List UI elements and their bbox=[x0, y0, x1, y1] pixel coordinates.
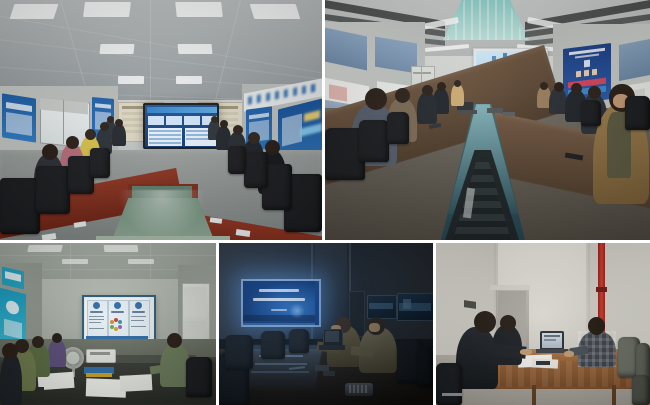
office-chair bbox=[359, 120, 389, 162]
attendee bbox=[112, 124, 126, 146]
office-chair bbox=[625, 96, 650, 130]
office-chair bbox=[0, 178, 40, 234]
collage-panel-bottom-right: Plain office with light walls; two men o… bbox=[436, 243, 650, 405]
attendee-head bbox=[107, 116, 114, 123]
collage-panel-bottom-middle: Darkened meeting room lit only by the pr… bbox=[219, 243, 433, 405]
attendee-head bbox=[211, 116, 218, 123]
office-chair bbox=[289, 329, 309, 353]
collage-panel-top-left: Large bright conference room with long d… bbox=[0, 0, 322, 240]
projection-screen bbox=[241, 279, 321, 327]
attendee bbox=[48, 339, 66, 367]
attendee bbox=[456, 327, 498, 389]
attendee-head bbox=[588, 86, 601, 99]
attendee-head bbox=[500, 315, 516, 331]
attendee bbox=[417, 92, 437, 124]
attendee-head bbox=[32, 336, 44, 348]
attendee-head bbox=[395, 88, 410, 103]
attendee-head bbox=[52, 333, 62, 343]
office-chair bbox=[387, 112, 409, 144]
office-chair bbox=[632, 375, 650, 405]
attendee-head bbox=[2, 343, 18, 359]
attendee-head bbox=[474, 311, 496, 333]
attendee bbox=[451, 84, 464, 106]
office-chair bbox=[186, 357, 212, 397]
attendee-head bbox=[233, 125, 243, 135]
attendee-head bbox=[540, 82, 548, 90]
presenter-head bbox=[167, 333, 182, 348]
attendee-head bbox=[554, 82, 564, 92]
office-chair bbox=[228, 146, 246, 174]
collage-panel-bottom-left: Small training room, five attendees on t… bbox=[0, 243, 216, 405]
attendee-head bbox=[588, 317, 605, 335]
office-chair bbox=[225, 335, 253, 369]
office-chair bbox=[90, 148, 110, 178]
attendee-head bbox=[454, 80, 461, 87]
attendee-head bbox=[42, 144, 58, 160]
attendee-head bbox=[66, 136, 79, 149]
attendee bbox=[0, 353, 22, 405]
attendee-head bbox=[248, 132, 260, 144]
photo-collage: Large bright conference room with long d… bbox=[0, 0, 650, 405]
window-blind bbox=[619, 39, 650, 81]
office-chair bbox=[261, 331, 285, 359]
collage-panel-top-right: Narrow conference room, very long dark b… bbox=[325, 0, 650, 240]
office-chair bbox=[581, 100, 601, 126]
office-chair bbox=[36, 166, 70, 214]
attendee-head bbox=[100, 122, 109, 131]
attendee-head bbox=[365, 88, 387, 110]
office-chair bbox=[417, 347, 433, 387]
attendee-head bbox=[571, 83, 582, 94]
attendee-head bbox=[220, 120, 228, 128]
attendee-head bbox=[437, 82, 446, 91]
office-chair bbox=[244, 152, 268, 188]
attendee-head bbox=[115, 119, 123, 127]
office-chair bbox=[436, 363, 462, 405]
attendee-head bbox=[85, 129, 96, 140]
attendee-head bbox=[422, 85, 433, 96]
